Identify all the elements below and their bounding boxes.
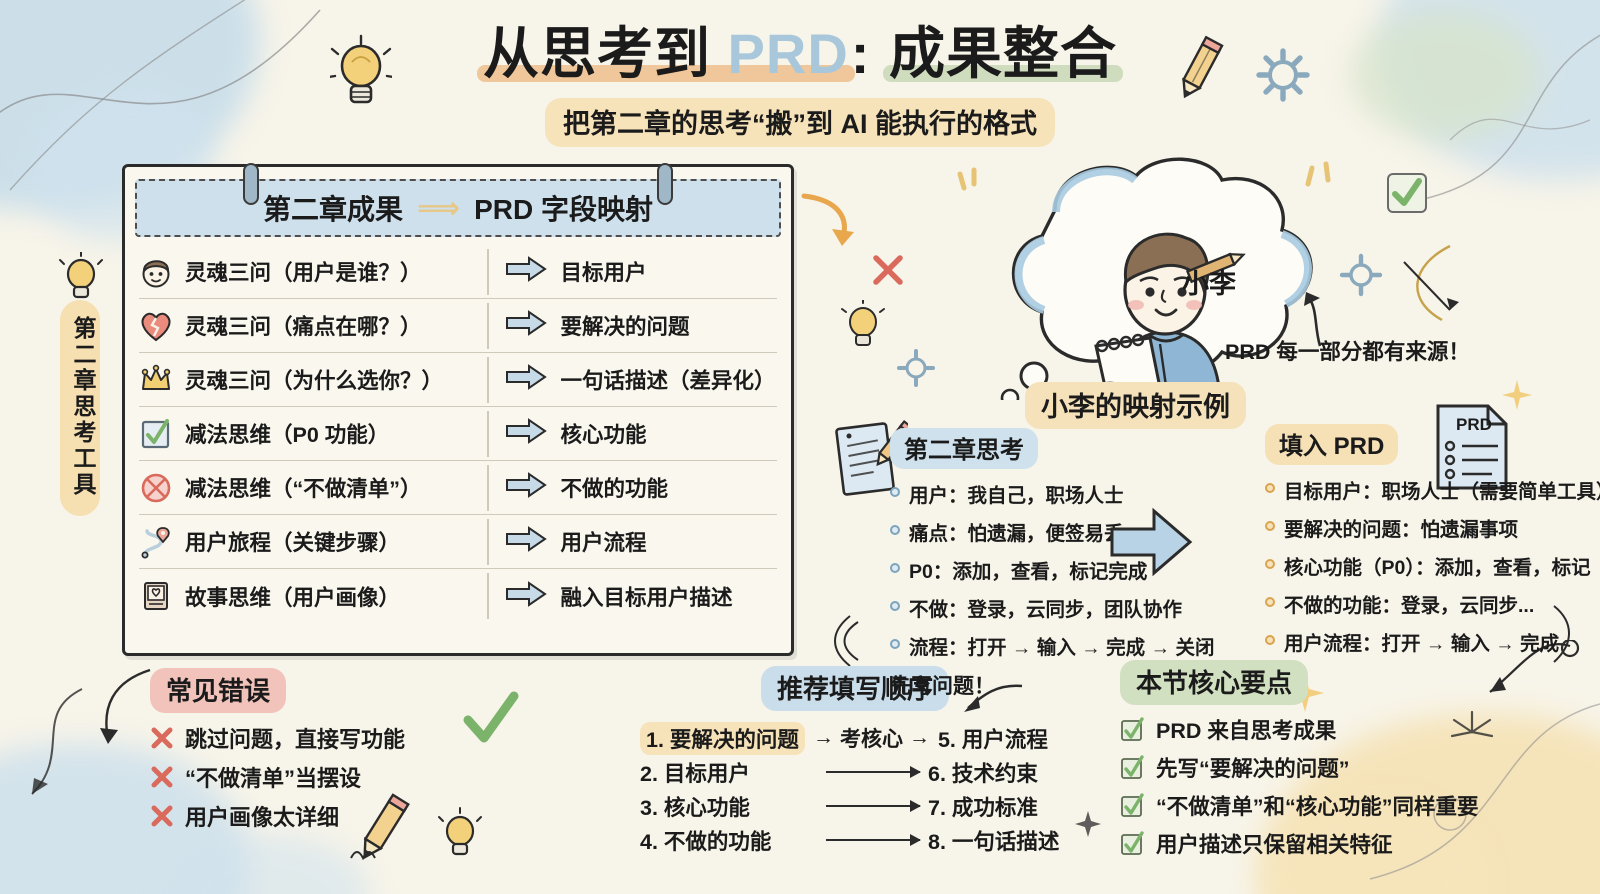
mapping-target-label: 核心功能 [561,418,647,449]
order-right-cell: 6. 技术约束 [920,757,1070,788]
page-subtitle: 把第二章的思考“搬”到 AI 能执行的格式 [545,98,1055,147]
bulb-icon [330,34,392,114]
binder-clip-right-icon [657,163,673,205]
mapping-source-label: 故事思维（用户画像） [185,581,400,612]
mapping-target-label: 用户流程 [561,526,647,557]
key-point-label: PRD 来自思考成果 [1156,714,1336,745]
example-section-title: 小李的映射示例 [1025,382,1246,429]
mapping-row-target: 核心功能 [489,418,647,449]
example-column-prd: 填入 PRD 目标用户：职场人士（需要简单工具）要解决的问题：怕遗漏事项核心功能… [1265,424,1595,665]
doodle-swirl-left [12,684,102,804]
source-note: PRD 每一部分都有来源！ [1225,335,1470,366]
order-right-cell: 5. 用户流程 [930,723,1070,754]
bullet-dot-icon [1265,597,1275,607]
list-item-label: 核心功能（P0）：添加，查看，标记 [1284,551,1591,580]
title-colon: : [851,22,887,85]
list-item-label: 目标用户：职场人士（需要简单工具） [1284,475,1600,504]
mapping-row-source: 减法思维（P0 功能） [139,417,487,451]
long-arrow-icon [826,805,920,807]
checkbox-check-icon [1120,831,1145,856]
chapter-tools-tab[interactable]: 第二章思考工具 [60,300,100,516]
checkbox-check-icon [1120,755,1145,780]
mapping-row-source: 灵魂三问（痛点在哪？） [139,309,487,343]
order-row: 1. 要解决的问题→ 考核心 →5. 用户流程 [640,721,1070,755]
order-note: 先写问题！ [890,670,995,700]
face-icon [139,255,173,289]
order-row: 2. 目标用户6. 技术约束 [640,755,1070,789]
sparkle-icon [1074,810,1102,838]
mapping-row[interactable]: 灵魂三问（用户是谁？） 目标用户 [139,245,777,299]
long-arrow-icon [826,839,920,841]
list-item: 用户：我自己，职场人士 [890,479,1190,508]
bullet-dot-icon [1265,635,1275,645]
list-item: 不做的功能：登录，云同步... [1265,589,1595,618]
key-points-section: 本节核心要点 PRD 来自思考成果先写“要解决的问题”“不做清单”和“核心功能”… [1120,660,1479,866]
bullet-dot-icon [890,639,900,649]
title-segment-one: 从思考到 PRD [481,22,851,86]
no-entry-icon [139,471,173,505]
mapping-row-target: 目标用户 [489,256,647,287]
mapping-source-label: 用户旅程（关键步骤） [185,526,400,557]
list-item: 流程：打开 → 输入 → 完成 → 关闭 [890,631,1190,660]
order-left-label: 4. 不做的功能 [640,825,771,856]
pencil-icon [345,790,417,872]
bulb-icon [58,252,104,302]
mapping-target-label: 目标用户 [561,256,647,287]
order-grid: 1. 要解决的问题→ 考核心 →5. 用户流程2. 目标用户6. 技术约束3. … [640,721,1070,857]
arrow-right-glyph: → [909,726,930,750]
order-left-label: 3. 核心功能 [640,791,750,822]
mapping-row-target: 不做的功能 [489,472,669,503]
gear-icon [1254,46,1312,104]
mapping-row[interactable]: 故事思维（用户画像） 融入目标用户描述 [139,569,777,623]
mapping-header-right: PRD 字段映射 [474,188,653,228]
key-point-label: 先写“要解决的问题” [1156,752,1350,783]
mapping-source-label: 减法思维（“不做清单”） [185,472,422,503]
check-green-decor-icon [1384,170,1430,216]
list-item-label: 要解决的问题：怕遗漏事项 [1284,513,1518,542]
mapping-target-label: 一句话描述（差异化） [561,364,776,395]
curved-arrow-to-bubble-icon [798,190,868,260]
list-item-label: 用户流程：打开 → 输入 → 完成 [1284,627,1559,656]
broken-heart-icon [139,309,173,343]
key-points-list: PRD 来自思考成果先写“要解决的问题”“不做清单”和“核心功能”同样重要用户描… [1120,714,1479,859]
mapping-row[interactable]: 减法思维（“不做清单”） 不做的功能 [139,461,777,515]
mapping-source-label: 灵魂三问（用户是谁？） [185,256,422,287]
bow-arrow-decor-icon [1390,240,1462,326]
long-arrow-icon [826,771,920,773]
list-item-label: 用户：我自己，职场人士 [909,479,1124,508]
key-point-label: 用户描述只保留相关特征 [1156,828,1393,859]
mapping-table-rows: 灵魂三问（用户是谁？） 目标用户 灵魂三问（痛点在哪？） 要解决的问题 灵魂三问… [139,245,777,623]
mapping-source-label: 减法思维（P0 功能） [185,418,389,449]
bulb-decor-icon [840,300,886,356]
list-item-label: 不做的功能：登录，云同步... [1284,589,1534,618]
mapping-row-target: 一句话描述（差异化） [489,364,776,395]
list-item-label: 流程：打开 → 输入 → 完成 → 关闭 [909,631,1215,660]
background-wash-bottom-mid [170,834,370,894]
list-item: 用户描述只保留相关特征 [1120,828,1479,859]
order-left-cell: 2. 目标用户 [640,757,826,788]
mapping-row-source: 灵魂三问（为什么选你？） [139,363,487,397]
order-right-cell: 7. 成功标准 [920,791,1070,822]
checkbox-check-icon [1120,717,1145,742]
bullet-dot-icon [1265,483,1275,493]
list-item: 跳过问题，直接写功能 [150,722,405,754]
binder-clip-left-icon [243,163,259,205]
page-title: 从思考到 PRD : 成果整合 [481,22,1119,86]
mapping-big-arrow-icon [1108,505,1194,579]
bracket-doodle [820,612,860,672]
row-arrow-icon [505,310,547,341]
cross-red-decor-icon [868,250,908,290]
list-item: PRD 来自思考成果 [1120,714,1479,745]
character-name-label: 小李 [1182,262,1236,301]
list-item: “不做清单”当摆设 [150,761,405,793]
order-left-cell: 1. 要解决的问题 [640,722,813,755]
error-item-label: “不做清单”当摆设 [185,761,361,793]
error-item-label: 跳过问题，直接写功能 [185,722,405,754]
order-left-label: 1. 要解决的问题 [640,722,805,755]
list-item-label: 痛点：怕遗漏，便签易丢 [909,517,1124,546]
example-right-list: 目标用户：职场人士（需要简单工具）要解决的问题：怕遗漏事项核心功能（P0）：添加… [1265,475,1595,656]
bullet-dot-icon [890,487,900,497]
order-connector: → 考核心 → [813,723,930,753]
title-prd-word: PRD [728,22,849,85]
order-left-cell: 3. 核心功能 [640,791,826,822]
mapping-row[interactable]: 用户旅程（关键步骤） 用户流程 [139,515,777,569]
mapping-row-target: 用户流程 [489,526,647,557]
gear-decor-icon [896,348,936,388]
order-right-cell: 8. 一句话描述 [920,825,1070,856]
list-item: 核心功能（P0）：添加，查看，标记 [1265,551,1595,580]
mapping-row-source: 用户旅程（关键步骤） [139,525,487,559]
mapping-header-arrow-icon: ⟹ [417,191,460,226]
row-arrow-icon [505,526,547,557]
list-item: 要解决的问题：怕遗漏事项 [1265,513,1595,542]
mapping-source-label: 灵魂三问（痛点在哪？） [185,310,422,341]
mapping-row-source: 灵魂三问（用户是谁？） [139,255,487,289]
list-item: 目标用户：职场人士（需要简单工具） [1265,475,1595,504]
order-right-label: 8. 一句话描述 [928,830,1059,854]
list-item: 不做：登录，云同步，团队协作 [890,593,1190,622]
order-middle-label: 考核心 [840,723,903,753]
arrow-right-glyph: → [813,726,834,750]
title-block: 从思考到 PRD : 成果整合 把第二章的思考“搬”到 AI 能执行的格式 [0,22,1600,147]
order-left-cell: 4. 不做的功能 [640,825,826,856]
bullet-dot-icon [890,601,900,611]
route-icon [139,525,173,559]
mapping-target-label: 不做的功能 [561,472,669,503]
mapping-table-header: 第二章成果 ⟹ PRD 字段映射 [135,179,781,237]
list-item: “不做清单”和“核心功能”同样重要 [1120,790,1479,821]
common-errors-heading: 常见错误 [150,668,286,713]
recommended-order-section: 推荐填写顺序 先写问题！ 1. 要解决的问题→ 考核心 →5. 用户流程2. 目… [640,666,1070,857]
row-arrow-icon [505,256,547,287]
mapping-row-source: 减法思维（“不做清单”） [139,471,487,505]
bullet-dot-icon [890,563,900,573]
row-arrow-icon [505,581,547,612]
list-item: 先写“要解决的问题” [1120,752,1479,783]
row-arrow-icon [505,418,547,449]
bulb-icon [435,805,485,861]
bullet-dot-icon [1265,559,1275,569]
checkbox-icon [139,417,173,451]
key-point-label: “不做清单”和“核心功能”同样重要 [1156,790,1479,821]
bullet-dot-icon [1265,521,1275,531]
order-connector [826,771,920,773]
row-arrow-icon [505,472,547,503]
pencil-icon [1168,32,1232,104]
check-green-icon [460,690,522,750]
example-left-heading: 第二章思考 [890,428,1038,469]
order-row: 3. 核心功能7. 成功标准 [640,789,1070,823]
row-arrow-icon [505,364,547,395]
key-points-heading: 本节核心要点 [1120,660,1308,705]
cross-red-icon [150,804,174,828]
mapping-row-target: 要解决的问题 [489,310,690,341]
bullet-dot-icon [890,525,900,535]
book-icon [139,579,173,613]
list-item: 用户流程：打开 → 输入 → 完成 [1265,627,1595,656]
example-right-heading: 填入 PRD [1265,424,1398,465]
order-middle-core: → 考核心 → [813,723,930,753]
order-connector [826,839,920,841]
mapping-row[interactable]: 灵魂三问（痛点在哪？） 要解决的问题 [139,299,777,353]
mapping-row-target: 融入目标用户描述 [489,581,733,612]
mapping-table-card: 第二章成果 ⟹ PRD 字段映射 灵魂三问（用户是谁？） 目标用户 灵魂三问（痛… [122,164,794,656]
mapping-row[interactable]: 减法思维（P0 功能） 核心功能 [139,407,777,461]
list-item-label: 不做：登录，云同步，团队协作 [909,593,1182,622]
cross-red-icon [150,765,174,789]
order-right-label: 7. 成功标准 [928,796,1038,820]
checkbox-check-icon [1120,793,1145,818]
mapping-source-label: 灵魂三问（为什么选你？） [185,364,443,395]
title-segment-two: 成果整合 [887,22,1119,86]
error-item-label: 用户画像太详细 [185,800,339,832]
mapping-target-label: 融入目标用户描述 [561,581,733,612]
crown-icon [139,363,173,397]
order-right-label: 6. 技术约束 [928,762,1038,786]
cross-red-icon [150,726,174,750]
order-row: 4. 不做的功能8. 一句话描述 [640,823,1070,857]
order-connector [826,805,920,807]
order-left-label: 2. 目标用户 [640,757,750,788]
mapping-row-source: 故事思维（用户画像） [139,579,487,613]
mapping-target-label: 要解决的问题 [561,310,690,341]
order-right-label: 5. 用户流程 [938,728,1048,752]
mapping-header-left: 第二章成果 [263,188,403,228]
mapping-row[interactable]: 灵魂三问（为什么选你？） 一句话描述（差异化） [139,353,777,407]
